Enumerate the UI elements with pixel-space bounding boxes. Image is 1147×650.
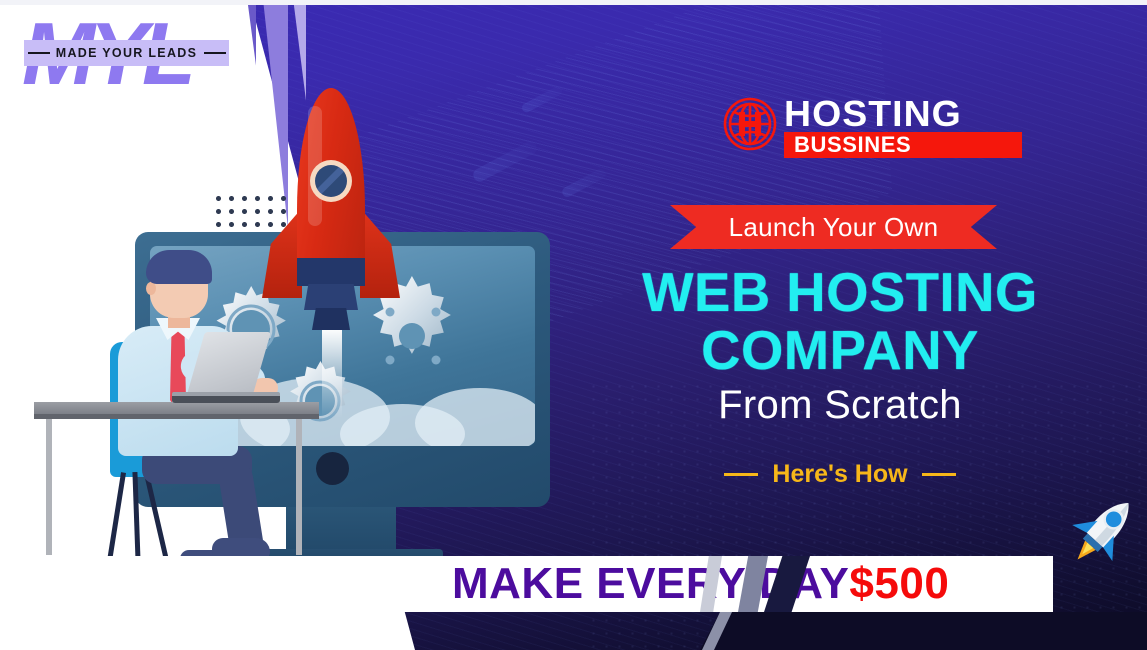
rocket-fin [360, 208, 400, 298]
globe-h-icon [722, 96, 778, 152]
desk-edge [34, 414, 319, 419]
brand-logo[interactable]: MYL MADE YOUR LEADS [14, 10, 244, 102]
offer-amount: $500 [849, 559, 949, 608]
rocket-small-icon [1062, 486, 1147, 572]
chair-leg [132, 472, 140, 562]
dash-right-icon [922, 473, 956, 476]
rocket-nozzle [312, 308, 350, 330]
rocket-band [297, 258, 365, 286]
bussines-word: BUSSINES [794, 132, 911, 158]
desk-leg [46, 419, 52, 555]
desk-leg [296, 419, 302, 555]
cta-hint-label: Here's How [772, 460, 907, 489]
offer-text: MAKE EVERY-DAY$500 [452, 556, 949, 612]
monitor-neck [286, 507, 396, 555]
launch-ribbon: Launch Your Own [670, 205, 997, 249]
desk-surface [34, 402, 319, 414]
rocket-exhaust-trail [322, 328, 342, 418]
subtitle: From Scratch [540, 383, 1140, 428]
logo-tagline: MADE YOUR LEADS [24, 40, 229, 66]
rocket-window [315, 165, 347, 197]
laptop-base-edge [172, 396, 280, 403]
top-edge-strip [0, 0, 1147, 5]
ribbon-label: Launch Your Own [729, 212, 939, 243]
figure-ear [146, 282, 156, 295]
dash-left-icon [724, 473, 758, 476]
main-title: WEB HOSTING COMPANY [543, 263, 1137, 379]
hosting-business-lockup: HOSTING BUSSINES [722, 96, 1032, 158]
logo-dash-left-icon [28, 52, 50, 54]
cta-hint-row: Here's How [540, 460, 1140, 489]
bottom-offer-banner: MAKE EVERY-DAY$500 [0, 556, 1053, 612]
chair-leg [144, 473, 169, 562]
chair-leg [107, 472, 126, 562]
figure-hair [146, 250, 212, 284]
hero-illustration [20, 150, 540, 570]
logo-dash-right-icon [204, 52, 226, 54]
monitor-indicator-dot [316, 452, 349, 485]
hosting-word: HOSTING [784, 93, 962, 135]
rocket-nozzle [304, 284, 358, 310]
headline-block: Launch Your Own WEB HOSTING COMPANY From… [540, 205, 1140, 489]
promotional-banner: MYL MADE YOUR LEADS [0, 0, 1147, 650]
